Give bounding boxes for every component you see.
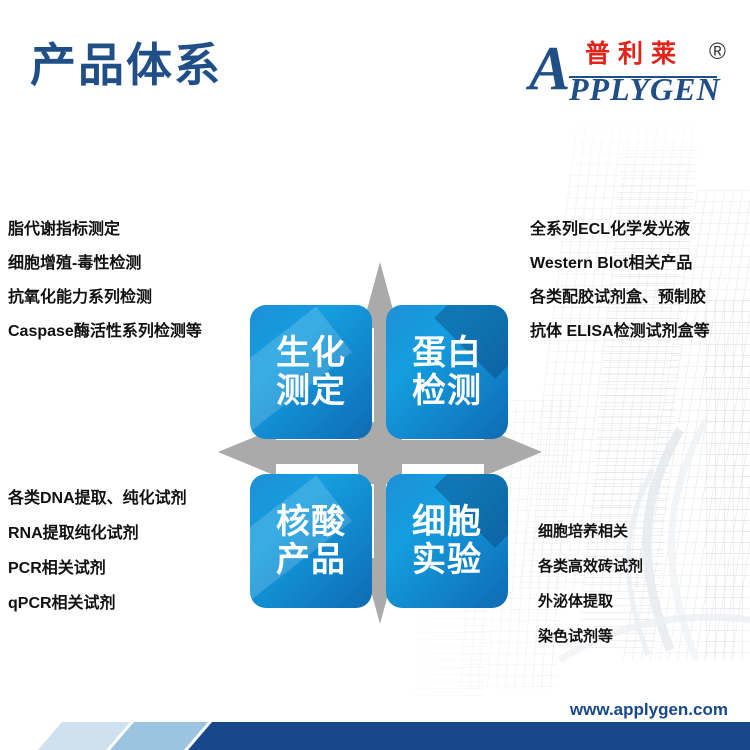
footer-website-url: www.applygen.com bbox=[570, 701, 728, 718]
list-item: 外泌体提取 bbox=[538, 594, 643, 609]
list-protein: 全系列ECL化学发光液 Western Blot相关产品 各类配胶试剂盒、预制胶… bbox=[530, 222, 710, 358]
list-item: 脂代谢指标测定 bbox=[8, 222, 202, 238]
list-biochem: 脂代谢指标测定 细胞增殖-毒性检测 抗氧化能力系列检测 Caspase酶活性系列… bbox=[8, 222, 202, 358]
logo-chinese-name: 普利莱 bbox=[585, 42, 684, 67]
tile-label-line1: 细胞 bbox=[412, 503, 482, 541]
footer-chevron-main bbox=[188, 722, 750, 750]
list-item: 细胞增殖-毒性检测 bbox=[8, 256, 202, 272]
tile-protein[interactable]: 蛋白 检测 bbox=[386, 305, 508, 439]
tile-biochem[interactable]: 生化 测定 bbox=[250, 305, 372, 439]
tile-label-line1: 核酸 bbox=[276, 503, 346, 541]
tile-label-line2: 测定 bbox=[276, 372, 346, 410]
list-item: 细胞培养相关 bbox=[538, 524, 643, 539]
list-item: 各类DNA提取、纯化试剂 bbox=[8, 491, 187, 507]
building-shape bbox=[706, 300, 750, 660]
list-item: PCR相关试剂 bbox=[8, 561, 187, 577]
tile-label-line2: 实验 bbox=[412, 541, 482, 579]
tile-label-line2: 检测 bbox=[412, 372, 482, 410]
logo-initial-letter: A bbox=[529, 38, 570, 100]
tile-label-line2: 产品 bbox=[276, 541, 346, 579]
list-item: 全系列ECL化学发光液 bbox=[530, 222, 710, 238]
list-item: qPCR相关试剂 bbox=[8, 596, 187, 612]
list-item: Western Blot相关产品 bbox=[530, 256, 710, 272]
list-item: Caspase酶活性系列检测等 bbox=[8, 324, 202, 340]
page-title: 产品体系 bbox=[30, 42, 222, 88]
tile-label-line1: 蛋白 bbox=[412, 334, 482, 372]
tile-cell[interactable]: 细胞 实验 bbox=[386, 474, 508, 608]
list-item: 各类配胶试剂盒、预制胶 bbox=[530, 290, 710, 306]
logo-english-name: PPLYGEN bbox=[569, 73, 721, 105]
list-item: 各类高效砖试剂 bbox=[538, 559, 643, 574]
applygen-logo: A 普利莱 ® PPLYGEN bbox=[525, 32, 730, 110]
list-item: 染色试剂等 bbox=[538, 629, 643, 644]
list-item: RNA提取纯化试剂 bbox=[8, 526, 187, 542]
list-cell: 细胞培养相关 各类高效砖试剂 外泌体提取 染色试剂等 bbox=[538, 524, 643, 664]
footer: www.applygen.com bbox=[0, 680, 750, 750]
tile-nucleic[interactable]: 核酸 产品 bbox=[250, 474, 372, 608]
list-nucleic: 各类DNA提取、纯化试剂 RNA提取纯化试剂 PCR相关试剂 qPCR相关试剂 bbox=[8, 491, 187, 631]
registered-trademark-icon: ® bbox=[709, 40, 726, 63]
list-item: 抗体 ELISA检测试剂盒等 bbox=[530, 324, 710, 340]
header: 产品体系 A 普利莱 ® PPLYGEN bbox=[0, 0, 750, 140]
tile-label-line1: 生化 bbox=[276, 334, 346, 372]
list-item: 抗氧化能力系列检测 bbox=[8, 290, 202, 306]
